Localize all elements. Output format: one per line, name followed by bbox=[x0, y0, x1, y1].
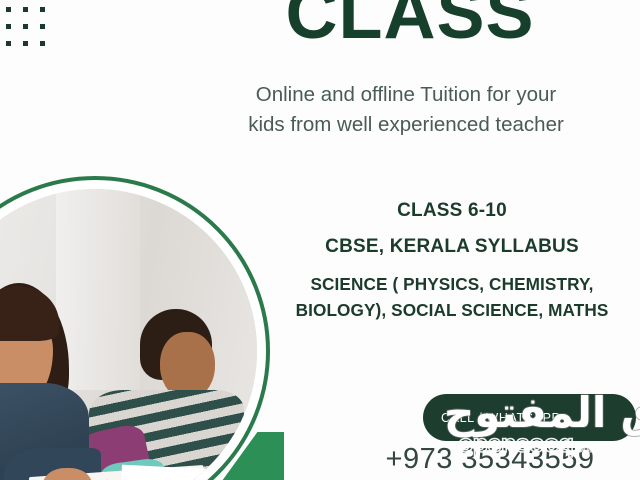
dot-decoration bbox=[6, 41, 11, 46]
call-button-label: CALL / WHATSAPP bbox=[441, 411, 560, 425]
detail-subjects-line-2: BIOLOGY), SOCIAL SCIENCE, MATHS bbox=[268, 298, 636, 324]
phone-number[interactable]: +973 35343559 bbox=[340, 443, 640, 476]
dot-decoration bbox=[23, 7, 28, 12]
poster-canvas: CLASS Online and offline Tuition for you… bbox=[0, 0, 640, 480]
subheading-line-1: Online and offline Tuition for your bbox=[196, 80, 616, 110]
course-details: CLASS 6-10 CBSE, KERALA SYLLABUS SCIENCE… bbox=[268, 198, 636, 324]
dot-decoration bbox=[6, 24, 11, 29]
detail-subjects: SCIENCE ( PHYSICS, CHEMISTRY, BIOLOGY), … bbox=[268, 272, 636, 324]
dot-decoration bbox=[23, 41, 28, 46]
photo-circle: S bbox=[0, 176, 270, 480]
photo-image: S bbox=[0, 189, 257, 480]
detail-class-range: CLASS 6-10 bbox=[268, 198, 636, 225]
dot-decoration bbox=[23, 24, 28, 29]
dot-grid-decoration bbox=[6, 0, 66, 70]
subheading: Online and offline Tuition for your kids… bbox=[196, 80, 616, 141]
dot-decoration bbox=[40, 24, 45, 29]
call-whatsapp-button[interactable]: CALL / WHATSAPP bbox=[423, 394, 636, 441]
page-title: CLASS bbox=[200, 0, 620, 50]
dot-decoration bbox=[40, 7, 45, 12]
dot-decoration bbox=[6, 7, 11, 12]
detail-subjects-line-1: SCIENCE ( PHYSICS, CHEMISTRY, bbox=[268, 272, 636, 298]
photo-ring-border: S bbox=[0, 176, 270, 480]
subheading-line-2: kids from well experienced teacher bbox=[196, 110, 616, 140]
dot-decoration bbox=[40, 41, 45, 46]
detail-syllabus: CBSE, KERALA SYLLABUS bbox=[268, 234, 636, 261]
